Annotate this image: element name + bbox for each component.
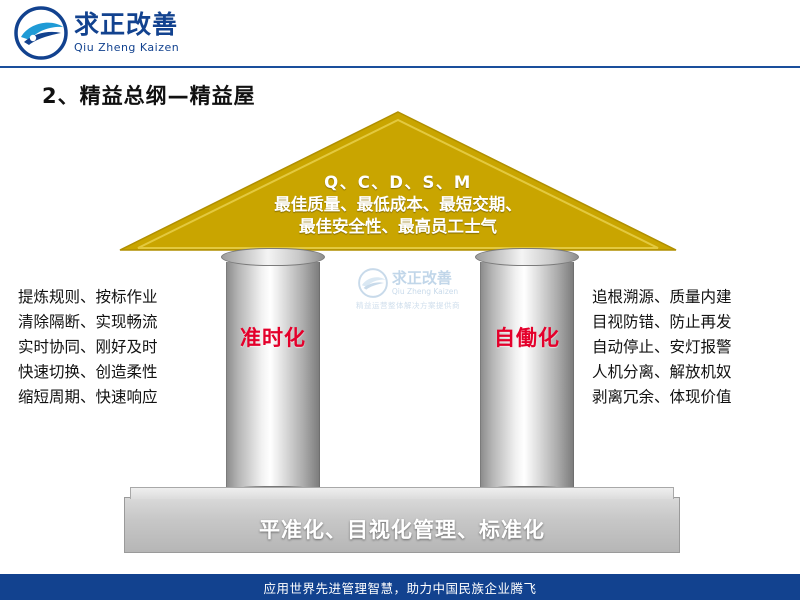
base-cap (130, 487, 674, 499)
list-item: 清除隔断、实现畅流 (18, 310, 158, 335)
pillar-body (226, 262, 320, 493)
brand-name-en: Qiu Zheng Kaizen (74, 41, 179, 54)
roof-line-3: 最佳安全性、最高员工士气 (118, 216, 678, 238)
right-principles-list: 追根溯源、质量内建 目视防错、防止再发 自动停止、安灯报警 人机分离、解放机奴 … (592, 285, 732, 410)
watermark-row: 求正改善 Qiu Zheng Kaizen (318, 268, 498, 298)
list-item: 剥离冗余、体现价值 (592, 385, 732, 410)
list-item: 目视防错、防止再发 (592, 310, 732, 335)
page-footer: 应用世界先进管理智慧，助力中国民族企业腾飞 (0, 574, 800, 600)
watermark: 求正改善 Qiu Zheng Kaizen 精益运营整体解决方案提供商 (318, 268, 498, 311)
brand-text: 求正改善 Qiu Zheng Kaizen (74, 12, 179, 53)
roof-text-block: Q、C、D、S、M 最佳质量、最低成本、最短交期、 最佳安全性、最高员工士气 (118, 172, 678, 238)
footer-text: 应用世界先进管理智慧，助力中国民族企业腾飞 (263, 578, 536, 597)
pillar-jit: 准时化 (226, 248, 320, 493)
list-item: 自动停止、安灯报警 (592, 335, 732, 360)
watermark-name-en: Qiu Zheng Kaizen (392, 287, 458, 296)
roof-line-2: 最佳质量、最低成本、最短交期、 (118, 194, 678, 216)
list-item: 人机分离、解放机奴 (592, 360, 732, 385)
swoosh-watermark-icon (358, 268, 388, 298)
brand-name-cn: 求正改善 (74, 12, 179, 38)
page-header: 求正改善 Qiu Zheng Kaizen (0, 0, 800, 68)
pillar-jidoka: 自働化 (480, 248, 574, 493)
watermark-subtitle: 精益运营整体解决方案提供商 (318, 300, 498, 311)
roof-line-1: Q、C、D、S、M (118, 172, 678, 194)
list-item: 实时协同、刚好及时 (18, 335, 158, 360)
pillar-cap (221, 248, 325, 266)
list-item: 追根溯源、质量内建 (592, 285, 732, 310)
pillar-body (480, 262, 574, 493)
list-item: 缩短周期、快速响应 (18, 385, 158, 410)
watermark-name-cn: 求正改善 (392, 271, 458, 286)
swoosh-logo-icon (14, 6, 68, 60)
pillar-label-jidoka: 自働化 (480, 326, 574, 351)
lean-house-base: 平准化、目视化管理、标准化 (124, 487, 680, 553)
pillar-label-jit: 准时化 (226, 326, 320, 351)
base-text: 平准化、目视化管理、标准化 (124, 514, 680, 544)
page-title: 2、精益总纲—精益屋 (42, 80, 256, 110)
pillar-cap (475, 248, 579, 266)
list-item: 快速切换、创造柔性 (18, 360, 158, 385)
lean-house-roof: Q、C、D、S、M 最佳质量、最低成本、最短交期、 最佳安全性、最高员工士气 (118, 110, 678, 252)
left-principles-list: 提炼规则、按标作业 清除隔断、实现畅流 实时协同、刚好及时 快速切换、创造柔性 … (18, 285, 158, 410)
list-item: 提炼规则、按标作业 (18, 285, 158, 310)
watermark-text: 求正改善 Qiu Zheng Kaizen (392, 271, 458, 296)
brand-logo: 求正改善 Qiu Zheng Kaizen (14, 6, 179, 60)
